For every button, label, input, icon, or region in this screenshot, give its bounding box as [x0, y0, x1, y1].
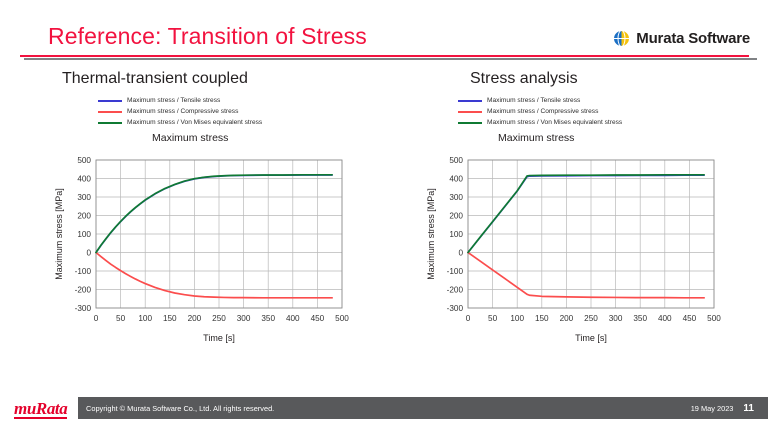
- chart-title-left: Maximum stress: [152, 132, 228, 144]
- footer-meta: 19 May 2023 11: [691, 403, 754, 414]
- legend-swatch-compressive: [458, 111, 482, 113]
- svg-text:50: 50: [488, 314, 498, 323]
- svg-text:500: 500: [707, 314, 721, 323]
- svg-text:0: 0: [86, 249, 91, 258]
- panel-heading-left: Thermal-transient coupled: [62, 70, 248, 88]
- chart-left: -300-200-1000100200300400500050100150200…: [50, 148, 350, 353]
- legend-left: Maximum stress / Tensile stress Maximum …: [98, 96, 262, 129]
- svg-text:50: 50: [116, 314, 126, 323]
- legend-item: Maximum stress / Compressive stress: [458, 107, 622, 117]
- svg-text:350: 350: [261, 314, 275, 323]
- legend-item: Maximum stress / Tensile stress: [98, 96, 262, 106]
- brand-name: Murata Software: [636, 30, 750, 47]
- footer-date: 19 May 2023: [691, 404, 734, 413]
- svg-text:450: 450: [311, 314, 325, 323]
- svg-text:400: 400: [286, 314, 300, 323]
- legend-swatch-tensile: [458, 100, 482, 102]
- svg-text:-300: -300: [447, 304, 464, 313]
- header-rule-red: [20, 55, 749, 57]
- legend-item: Maximum stress / Von Mises equivalent st…: [98, 118, 262, 128]
- legend-swatch-vonmises: [98, 122, 122, 124]
- svg-text:200: 200: [449, 212, 463, 221]
- svg-text:500: 500: [77, 156, 91, 165]
- svg-text:500: 500: [335, 314, 349, 323]
- panel-heading-right: Stress analysis: [470, 70, 578, 88]
- legend-label-vonmises: Maximum stress / Von Mises equivalent st…: [487, 119, 622, 127]
- svg-text:300: 300: [237, 314, 251, 323]
- svg-text:-200: -200: [75, 286, 92, 295]
- chart-canvas-right: -300-200-1000100200300400500050100150200…: [422, 148, 722, 348]
- svg-text:200: 200: [77, 212, 91, 221]
- svg-text:Maximum stress [MPa]: Maximum stress [MPa]: [54, 188, 64, 280]
- svg-text:450: 450: [683, 314, 697, 323]
- svg-text:350: 350: [633, 314, 647, 323]
- slide-header: Reference: Transition of Stress Murata S…: [0, 0, 768, 62]
- svg-text:500: 500: [449, 156, 463, 165]
- svg-text:300: 300: [449, 193, 463, 202]
- chart-canvas-left: -300-200-1000100200300400500050100150200…: [50, 148, 350, 348]
- page-number: 11: [743, 403, 754, 414]
- slide-footer: muRata Copyright © Murata Software Co., …: [0, 394, 768, 432]
- svg-text:250: 250: [212, 314, 226, 323]
- murata-footer-logo: muRata: [14, 400, 67, 419]
- svg-text:300: 300: [609, 314, 623, 323]
- svg-text:0: 0: [94, 314, 99, 323]
- svg-text:0: 0: [458, 249, 463, 258]
- svg-text:-100: -100: [447, 267, 464, 276]
- svg-text:400: 400: [77, 175, 91, 184]
- panels-container: Thermal-transient coupled Maximum stress…: [0, 64, 768, 394]
- legend-label-tensile: Maximum stress / Tensile stress: [127, 97, 220, 105]
- legend-swatch-vonmises: [458, 122, 482, 124]
- legend-item: Maximum stress / Tensile stress: [458, 96, 622, 106]
- footer-bar: Copyright © Murata Software Co., Ltd. Al…: [78, 397, 768, 419]
- header-rule-gray: [24, 58, 757, 60]
- svg-text:100: 100: [138, 314, 152, 323]
- legend-swatch-compressive: [98, 111, 122, 113]
- svg-text:150: 150: [163, 314, 177, 323]
- svg-text:-200: -200: [447, 286, 464, 295]
- legend-item: Maximum stress / Von Mises equivalent st…: [458, 118, 622, 128]
- chart-right: -300-200-1000100200300400500050100150200…: [422, 148, 722, 353]
- legend-label-tensile: Maximum stress / Tensile stress: [487, 97, 580, 105]
- svg-text:250: 250: [584, 314, 598, 323]
- svg-text:100: 100: [77, 230, 91, 239]
- footer-copyright: Copyright © Murata Software Co., Ltd. Al…: [86, 404, 274, 413]
- legend-swatch-tensile: [98, 100, 122, 102]
- svg-text:Time [s]: Time [s]: [203, 333, 235, 343]
- svg-text:150: 150: [535, 314, 549, 323]
- panel-stress-analysis: Stress analysis Maximum stress / Tensile…: [384, 64, 768, 394]
- legend-label-vonmises: Maximum stress / Von Mises equivalent st…: [127, 119, 262, 127]
- chart-title-right: Maximum stress: [498, 132, 574, 144]
- svg-text:300: 300: [77, 193, 91, 202]
- legend-label-compressive: Maximum stress / Compressive stress: [127, 108, 238, 116]
- legend-label-compressive: Maximum stress / Compressive stress: [487, 108, 598, 116]
- legend-item: Maximum stress / Compressive stress: [98, 107, 262, 117]
- svg-text:200: 200: [560, 314, 574, 323]
- svg-text:100: 100: [510, 314, 524, 323]
- svg-text:Maximum stress [MPa]: Maximum stress [MPa]: [426, 188, 436, 280]
- svg-text:400: 400: [449, 175, 463, 184]
- svg-text:200: 200: [188, 314, 202, 323]
- svg-text:Time [s]: Time [s]: [575, 333, 607, 343]
- globe-icon: [613, 30, 630, 47]
- legend-right: Maximum stress / Tensile stress Maximum …: [458, 96, 622, 129]
- svg-text:0: 0: [466, 314, 471, 323]
- svg-text:-300: -300: [75, 304, 92, 313]
- page-title: Reference: Transition of Stress: [48, 23, 367, 50]
- murata-software-logo: Murata Software: [613, 30, 750, 47]
- svg-text:100: 100: [449, 230, 463, 239]
- panel-thermal-transient: Thermal-transient coupled Maximum stress…: [0, 64, 384, 394]
- svg-text:-100: -100: [75, 267, 92, 276]
- svg-text:400: 400: [658, 314, 672, 323]
